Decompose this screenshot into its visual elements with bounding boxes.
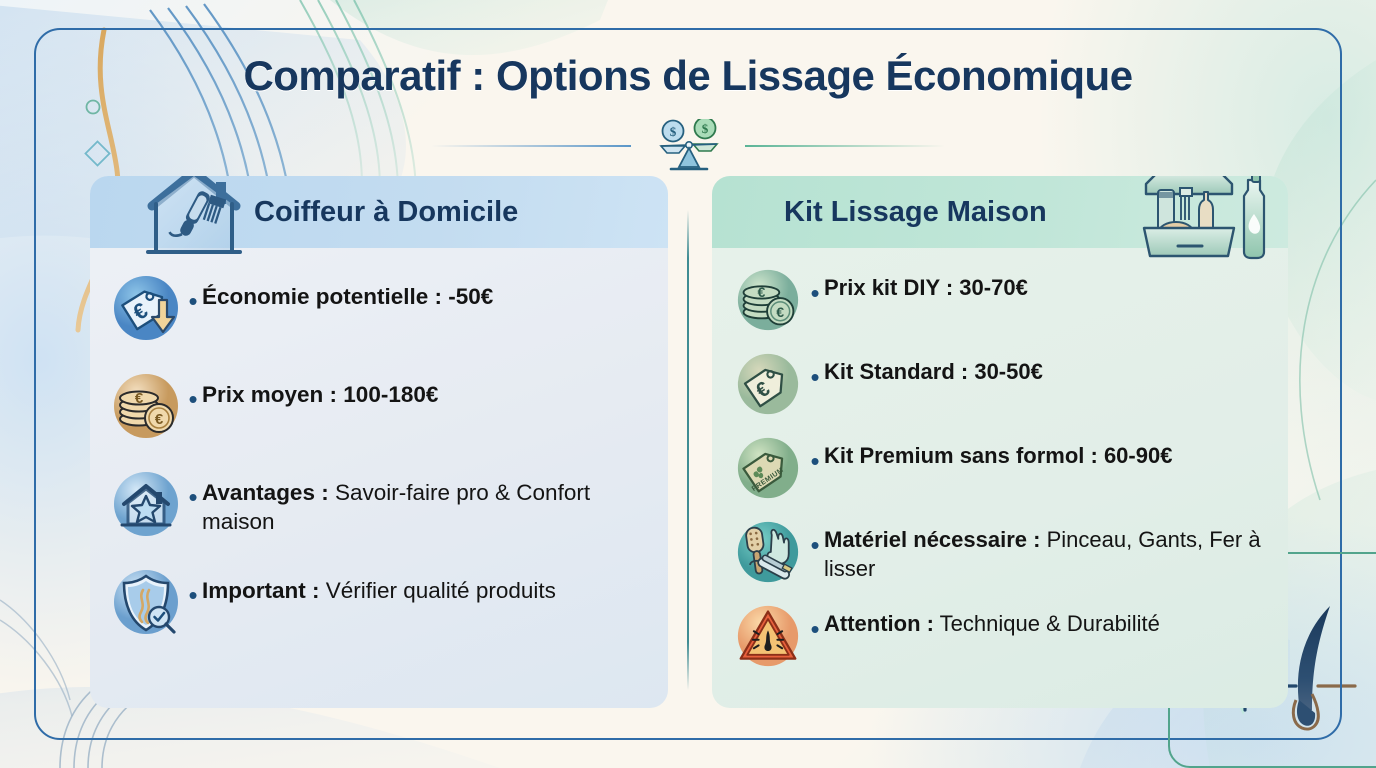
- svg-text:€: €: [757, 284, 765, 300]
- balance-scale-icon: $ $: [649, 119, 727, 173]
- list-item-bold: Prix moyen : 100-180€: [202, 382, 438, 407]
- list-item: • Important : Vérifier qualité produits: [108, 564, 642, 650]
- shield-check-hair-icon: [112, 568, 180, 636]
- panel-separator: [687, 210, 689, 690]
- list-item-bold: Kit Standard : 30-50€: [824, 359, 1043, 384]
- bullet: •: [184, 270, 202, 314]
- svg-text:€: €: [776, 304, 784, 320]
- premium-leaf-tag-icon: PREMIUM: [736, 436, 800, 500]
- row-icon: €: [108, 270, 184, 346]
- panel-header-left: Coiffeur à Domicile: [90, 176, 668, 248]
- list-item: € • Kit Standard : 30-50€: [730, 346, 1262, 424]
- list-item: PREMIUM • Kit Premium sans formol : 60-9…: [730, 430, 1262, 508]
- panel-title-left: Coiffeur à Domicile: [254, 196, 518, 229]
- euro-price-tag-icon: €: [736, 352, 800, 416]
- house-star-icon: [112, 470, 180, 538]
- list-item-text: Important : Vérifier qualité produits: [202, 564, 642, 605]
- bullet: •: [806, 262, 824, 306]
- warning-triangle-icon: [736, 604, 800, 668]
- list-item-bold: Économie potentielle : -50€: [202, 284, 493, 309]
- divider-line-left: [431, 145, 631, 147]
- list-item-rest: Technique & Durabilité: [934, 611, 1160, 636]
- bullet: •: [184, 564, 202, 608]
- list-item-bold: Kit Premium sans formol : 60-90€: [824, 443, 1172, 468]
- list-item-bold: Avantages :: [202, 480, 329, 505]
- row-icon: €: [730, 346, 806, 422]
- list-item-bold: Matériel nécessaire :: [824, 527, 1040, 552]
- bullet: •: [806, 430, 824, 474]
- list-item-bold: Prix kit DIY : 30-70€: [824, 275, 1028, 300]
- panel-kit-lissage-maison: Kit Lissage Maison: [712, 176, 1288, 708]
- product-kit-box-icon: [1128, 176, 1278, 274]
- list-item-text: Prix moyen : 100-180€: [202, 368, 642, 409]
- circle-outline: [87, 101, 100, 114]
- euro-coins-icon: € €: [112, 372, 180, 440]
- title-divider: $ $: [0, 116, 1376, 176]
- row-icon: [730, 598, 806, 674]
- bullet: •: [806, 514, 824, 558]
- list-left: € • Économie potentielle : -50€: [90, 248, 668, 650]
- panel-coiffeur-domicile: Coiffeur à Domicile €: [90, 176, 668, 708]
- list-item: € • Économie potentielle : -50€: [108, 270, 642, 356]
- svg-text:$: $: [670, 124, 677, 139]
- list-item-text: Attention : Technique & Durabilité: [824, 598, 1262, 639]
- page-title-text: Comparatif : Options de Lissage Économiq…: [0, 52, 1376, 100]
- svg-text:€: €: [135, 390, 144, 407]
- infographic-canvas: Comparatif : Options de Lissage Économiq…: [0, 0, 1376, 768]
- list-item-text: Kit Premium sans formol : 60-90€: [824, 430, 1262, 471]
- list-item-rest: Vérifier qualité produits: [320, 578, 556, 603]
- list-item-text: Avantages : Savoir-faire pro & Confort m…: [202, 466, 642, 537]
- list-item: • Matériel nécessaire : Pinceau, Gants, …: [730, 514, 1262, 592]
- row-icon: [730, 514, 806, 590]
- price-tag-down-arrow-icon: €: [112, 274, 180, 342]
- panel-title-right: Kit Lissage Maison: [784, 196, 1047, 229]
- list-item-bold: Important :: [202, 578, 320, 603]
- house-with-flat-iron-icon: [138, 176, 250, 264]
- row-icon: € €: [108, 368, 184, 444]
- bullet: •: [184, 368, 202, 412]
- bullet: •: [184, 466, 202, 510]
- list-item-text: Matériel nécessaire : Pinceau, Gants, Fe…: [824, 514, 1262, 583]
- row-icon: PREMIUM: [730, 430, 806, 506]
- bullet: •: [806, 346, 824, 390]
- list-item: • Attention : Technique & Durabilité: [730, 598, 1262, 676]
- panel-header-right: Kit Lissage Maison: [712, 176, 1288, 248]
- bullet: •: [806, 598, 824, 642]
- list-item-text: Économie potentielle : -50€: [202, 270, 642, 311]
- row-icon: [108, 466, 184, 542]
- brush-gloves-iron-icon: [736, 520, 800, 584]
- divider-line-right: [745, 145, 945, 147]
- svg-text:$: $: [702, 121, 709, 136]
- row-icon: € €: [730, 262, 806, 338]
- green-euro-coins-icon: € €: [736, 268, 800, 332]
- svg-text:€: €: [155, 411, 164, 428]
- row-icon: [108, 564, 184, 640]
- page-title: Comparatif : Options de Lissage Économiq…: [0, 52, 1376, 100]
- list-item: € € • Prix moyen : 100-180€: [108, 368, 642, 454]
- list-item-bold: Attention :: [824, 611, 934, 636]
- list-item-text: Kit Standard : 30-50€: [824, 346, 1262, 387]
- list-item: • Avantages : Savoir-faire pro & Confort…: [108, 466, 642, 552]
- list-right: € € • Prix kit DIY : 30-70€: [712, 248, 1288, 676]
